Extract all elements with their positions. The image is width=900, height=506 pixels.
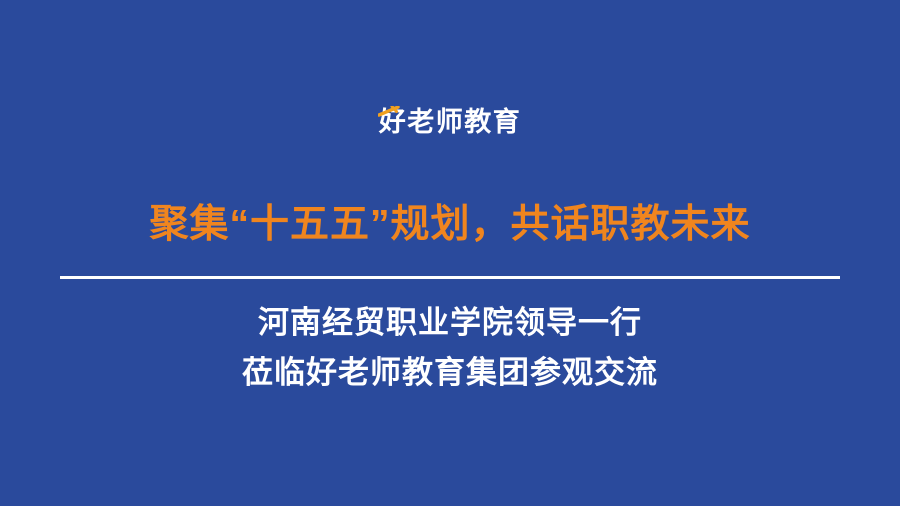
headline-container: 聚集“十五五”规划，共话职教未来 (0, 200, 900, 250)
brand-logo: 好老师教育 (379, 103, 522, 141)
headline-text: 聚集“十五五”规划，共话职教未来 (149, 200, 750, 250)
subtitle-line-2: 莅临好老师教育集团参观交流 (0, 348, 900, 398)
subtitle-container: 河南经贸职业学院领导一行 莅临好老师教育集团参观交流 (0, 298, 900, 398)
poster-banner: 好老师教育 聚集“十五五”规划，共话职教未来 河南经贸职业学院领导一行 莅临好老… (0, 0, 900, 506)
brand-header: 好老师教育 (0, 103, 900, 141)
horizontal-divider (60, 276, 840, 279)
brand-logo-text: 好老师教育 (379, 107, 522, 137)
subtitle-line-1: 河南经贸职业学院领导一行 (0, 298, 900, 348)
